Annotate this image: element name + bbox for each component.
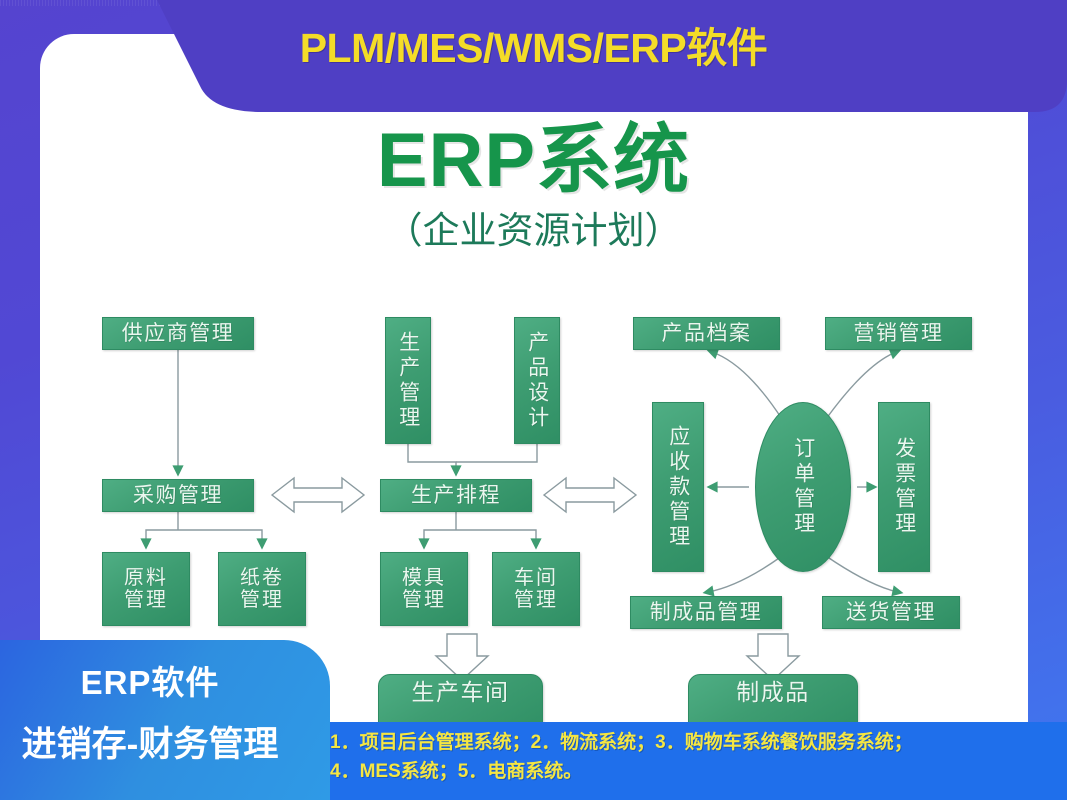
node-label: 采购管理 bbox=[133, 484, 223, 508]
node-product-design[interactable]: 产品设计 bbox=[514, 317, 560, 444]
node-label: 制成品管理 bbox=[650, 601, 763, 625]
header-ribbon-title: PLM/MES/WMS/ERP软件 bbox=[0, 14, 1067, 74]
node-purchase[interactable]: 采购管理 bbox=[102, 479, 254, 512]
node-label: 生产排程 bbox=[411, 484, 501, 508]
node-receivable-management[interactable]: 应收款管理 bbox=[652, 402, 704, 572]
header-ribbon: PLM/MES/WMS/ERP软件 bbox=[0, 0, 1067, 112]
node-workshop-management[interactable]: 车间管理 bbox=[492, 552, 580, 626]
side-panel: ERP软件 进销存-财务管理 bbox=[0, 640, 330, 800]
node-delivery-management[interactable]: 送货管理 bbox=[822, 596, 960, 629]
node-label: 产品设计 bbox=[525, 331, 549, 431]
node-supplier[interactable]: 供应商管理 bbox=[102, 317, 254, 350]
node-label: 订单管理 bbox=[791, 437, 815, 537]
node-invoice-management[interactable]: 发票管理 bbox=[878, 402, 930, 572]
node-label: 产品档案 bbox=[662, 322, 752, 346]
node-material[interactable]: 原料管理 bbox=[102, 552, 190, 626]
node-label: 制成品 bbox=[736, 680, 810, 706]
node-label: 车间管理 bbox=[507, 567, 565, 612]
node-mold-management[interactable]: 模具管理 bbox=[380, 552, 468, 626]
footer-line-2: 4．MES系统；5．电商系统。 bbox=[330, 757, 1060, 786]
node-marketing-management[interactable]: 营销管理 bbox=[825, 317, 972, 350]
node-order-management[interactable]: 订单管理 bbox=[755, 402, 851, 572]
double-arrow-schedule-receivable bbox=[544, 478, 636, 512]
footer-line-1: 1．项目后台管理系统；2．物流系统；3．购物车系统餐饮服务系统； bbox=[330, 728, 1060, 757]
node-label: 供应商管理 bbox=[122, 322, 235, 346]
node-label: 应收款管理 bbox=[666, 425, 690, 550]
node-label: 营销管理 bbox=[854, 322, 944, 346]
node-production-schedule[interactable]: 生产排程 bbox=[380, 479, 532, 512]
node-paper-roll[interactable]: 纸卷管理 bbox=[218, 552, 306, 626]
side-panel-line-2: 进销存-财务管理 bbox=[0, 716, 330, 767]
node-label: 纸卷管理 bbox=[233, 567, 291, 612]
node-production-management[interactable]: 生产管理 bbox=[385, 317, 431, 444]
node-finished-goods-management[interactable]: 制成品管理 bbox=[630, 596, 782, 629]
slide-root: 供应商管理 采购管理 原料管理 纸卷管理 生产管理 产品设计 生产排程 模具管理… bbox=[0, 0, 1067, 800]
node-label: 原料管理 bbox=[117, 567, 175, 612]
page-subtitle: （企业资源计划） bbox=[0, 200, 1067, 254]
double-arrow-purchase-schedule bbox=[272, 478, 364, 512]
node-label: 模具管理 bbox=[395, 567, 453, 612]
node-label: 送货管理 bbox=[846, 601, 936, 625]
node-label: 生产车间 bbox=[412, 680, 510, 706]
node-label: 生产管理 bbox=[396, 331, 420, 431]
node-product-archive[interactable]: 产品档案 bbox=[633, 317, 780, 350]
node-label: 发票管理 bbox=[892, 437, 916, 537]
side-panel-line-1: ERP软件 bbox=[0, 656, 330, 704]
